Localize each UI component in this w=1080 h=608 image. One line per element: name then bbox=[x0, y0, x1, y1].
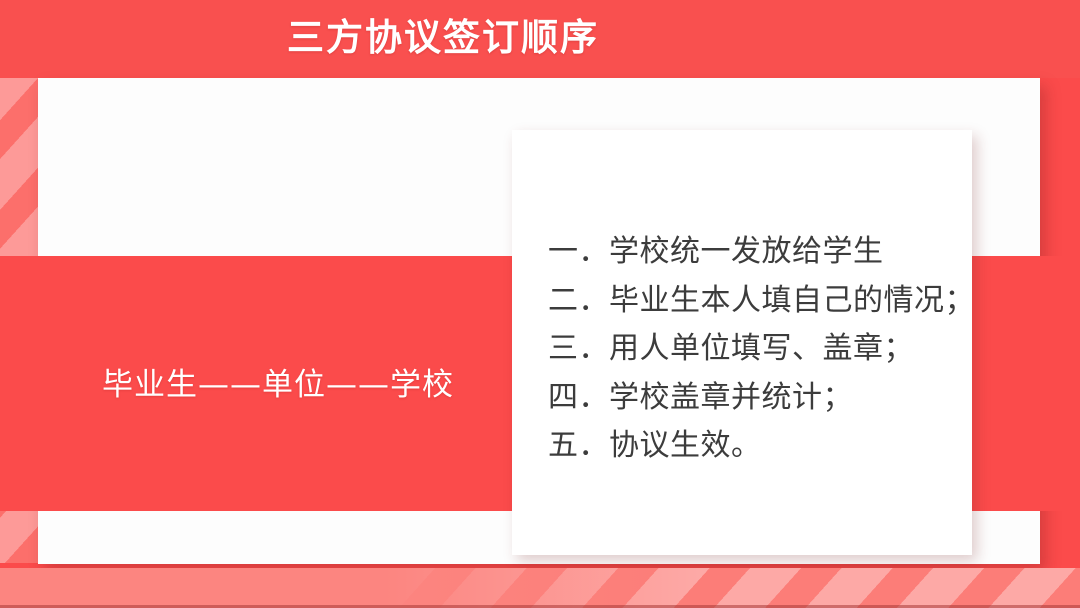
list-item: 五．协议生效。 bbox=[548, 422, 968, 471]
list-item-label: 学校盖章并统计； bbox=[609, 374, 853, 423]
list-item-label: 毕业生本人填自己的情况； bbox=[609, 277, 975, 326]
steps-list: 一．学校统一发放给学生 二．毕业生本人填自己的情况； 三．用人单位填写、盖章； … bbox=[548, 228, 968, 471]
list-item-label: 协议生效。 bbox=[609, 422, 762, 471]
list-item-index: 一． bbox=[548, 228, 609, 277]
list-item: 三．用人单位填写、盖章； bbox=[548, 325, 968, 374]
decorative-stripes-bottom-fade bbox=[0, 568, 700, 608]
list-item-index: 三． bbox=[548, 325, 609, 374]
list-item-index: 五． bbox=[548, 422, 609, 471]
flow-label: 毕业生——单位——学校 bbox=[58, 364, 498, 406]
page-title: 三方协议签订顺序 bbox=[0, 13, 886, 63]
list-item-index: 四． bbox=[548, 374, 609, 423]
list-item-label: 学校统一发放给学生 bbox=[609, 228, 884, 277]
slide-canvas: 三方协议签订顺序 毕业生——单位——学校 一．学校统一发放给学生 二．毕业生本人… bbox=[0, 0, 1080, 608]
list-item-label: 用人单位填写、盖章； bbox=[609, 325, 914, 374]
list-item: 二．毕业生本人填自己的情况； bbox=[548, 277, 968, 326]
list-item: 四．学校盖章并统计； bbox=[548, 374, 968, 423]
list-item-index: 二． bbox=[548, 277, 609, 326]
list-item: 一．学校统一发放给学生 bbox=[548, 228, 968, 277]
